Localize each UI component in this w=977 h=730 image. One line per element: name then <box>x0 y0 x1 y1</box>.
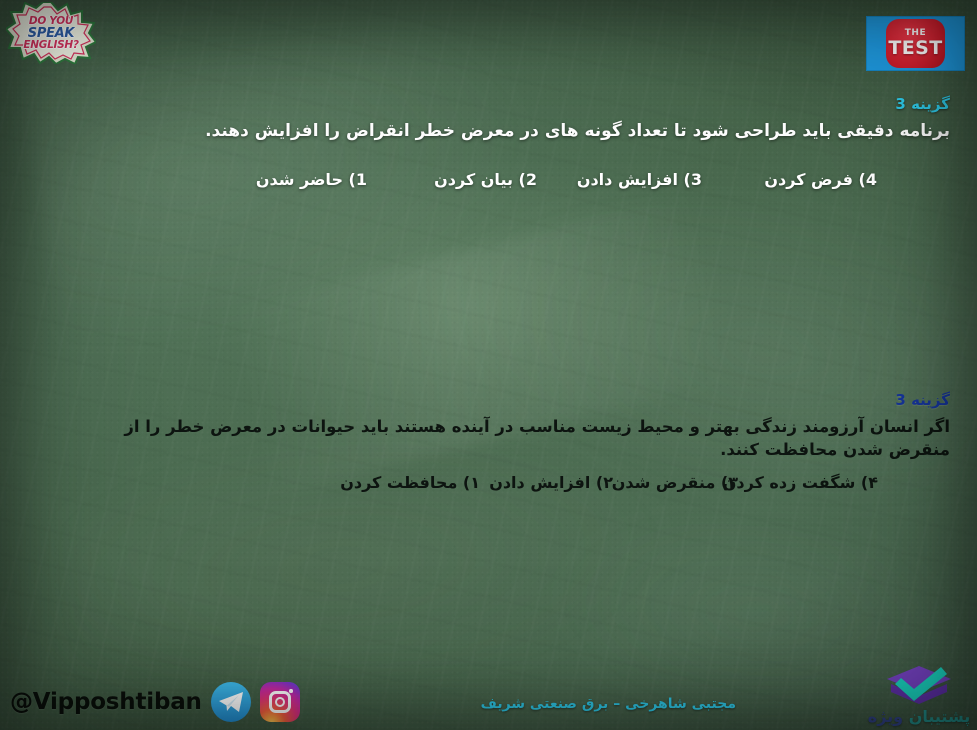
brand-word-1: پشتیبان <box>909 707 971 726</box>
option-1[interactable]: 1) حاضر شدن <box>256 170 367 189</box>
answer-label: گزینه 3 <box>60 392 950 409</box>
option-2[interactable]: 2) بیان کردن <box>367 170 537 189</box>
options-row: 4) فرض کردن 3) افزایش دادن 2) بیان کردن … <box>120 170 950 189</box>
brand-logo: پشتیبان ویژه <box>867 662 971 728</box>
slide-canvas: DO YOU SPEAK ENGLISH? THE TEST گزینه 3 ب… <box>0 0 977 730</box>
option-4[interactable]: ۴) شگفت زده کردن <box>738 473 878 492</box>
logo-test-text: TEST <box>888 39 942 58</box>
social-handle[interactable]: @Vipposhtiban <box>10 689 202 715</box>
option-3[interactable]: 3) افزایش دادن <box>537 170 702 189</box>
options-row: ۴) شگفت زده کردن ۳) منقرض شدن ۲) افزایش … <box>60 473 950 492</box>
chalk-smudge <box>20 1 581 379</box>
sticker-line-3: ENGLISH? <box>23 40 78 51</box>
question-text: اگر انسان آرزومند زندگی بهتر و محیط زیست… <box>60 415 950 462</box>
option-4[interactable]: 4) فرض کردن <box>702 170 877 189</box>
option-1[interactable]: ۱) محافظت کردن <box>340 473 480 492</box>
option-2[interactable]: ۲) افزایش دادن <box>480 473 613 492</box>
graduation-cap-check-icon <box>885 664 953 708</box>
do-you-speak-english-sticker: DO YOU SPEAK ENGLISH? <box>6 2 96 64</box>
teacher-credit: مجتبی شاهرخی – برق صنعتی شریف <box>481 696 736 712</box>
brand-word-2: ویژه <box>868 707 903 726</box>
sticker-line-2: SPEAK <box>28 27 74 40</box>
sticker-line-1: DO YOU <box>29 16 73 27</box>
telegram-icon[interactable] <box>211 682 251 722</box>
instagram-icon[interactable] <box>260 682 300 722</box>
question-block-2: گزینه 3 اگر انسان آرزومند زندگی بهتر و م… <box>60 392 950 492</box>
social-footer: @Vipposhtiban <box>10 682 300 722</box>
answer-label: گزینه 3 <box>120 96 950 113</box>
brand-name: پشتیبان ویژه <box>867 707 971 726</box>
the-test-logo: THE TEST <box>866 16 965 71</box>
question-block-1: گزینه 3 برنامه دقیقی باید طراحی شود تا ت… <box>120 96 950 189</box>
option-3[interactable]: ۳) منقرض شدن <box>613 473 738 492</box>
question-text: برنامه دقیقی باید طراحی شود تا تعداد گون… <box>120 119 950 143</box>
